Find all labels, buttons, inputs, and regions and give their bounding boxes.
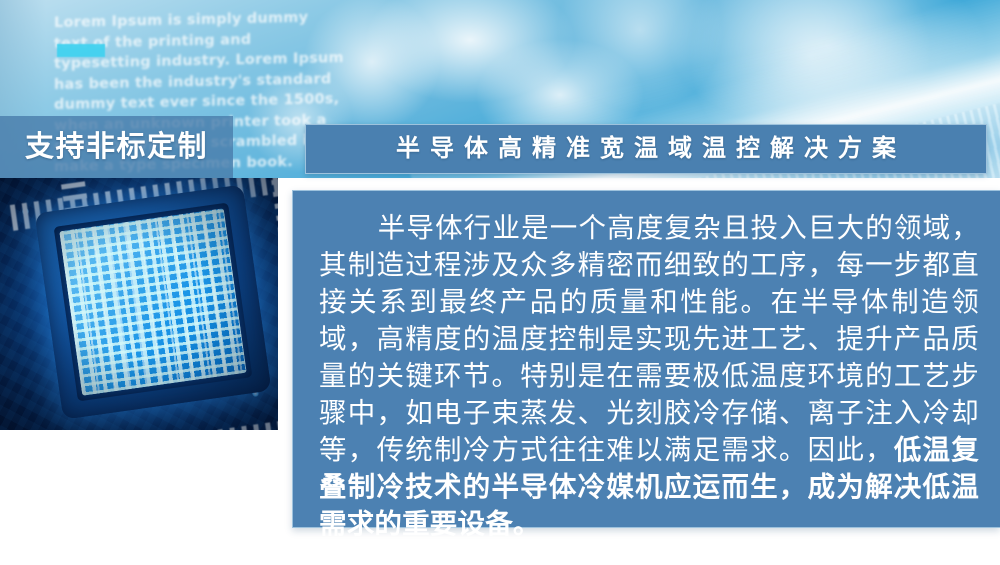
chip-vignette [0,178,278,430]
ribbon-label: 支持非标定制 [25,133,208,162]
page-title: 半导体高精准宽温域温控解决方案 [386,137,906,161]
support-customization-ribbon: 支持非标定制 [0,116,233,178]
bottom-white-area [0,430,292,565]
paragraph-normal-text: 半导体行业是一个高度复杂且投入巨大的领域，其制造过程涉及众多精密而细致的工序，每… [319,212,979,465]
content-paragraph: 半导体行业是一个高度复杂且投入巨大的领域，其制造过程涉及众多精密而细致的工序，每… [319,209,979,542]
hero-highlight-bar [57,44,105,57]
title-bar: 半导体高精准宽温域温控解决方案 [305,124,987,174]
slide-root: Lorem Ipsum is simply dummy text of the … [0,0,1000,565]
content-panel: 半导体行业是一个高度复杂且投入巨大的领域，其制造过程涉及众多精密而细致的工序，每… [292,190,1000,528]
chip-photo [0,178,278,430]
